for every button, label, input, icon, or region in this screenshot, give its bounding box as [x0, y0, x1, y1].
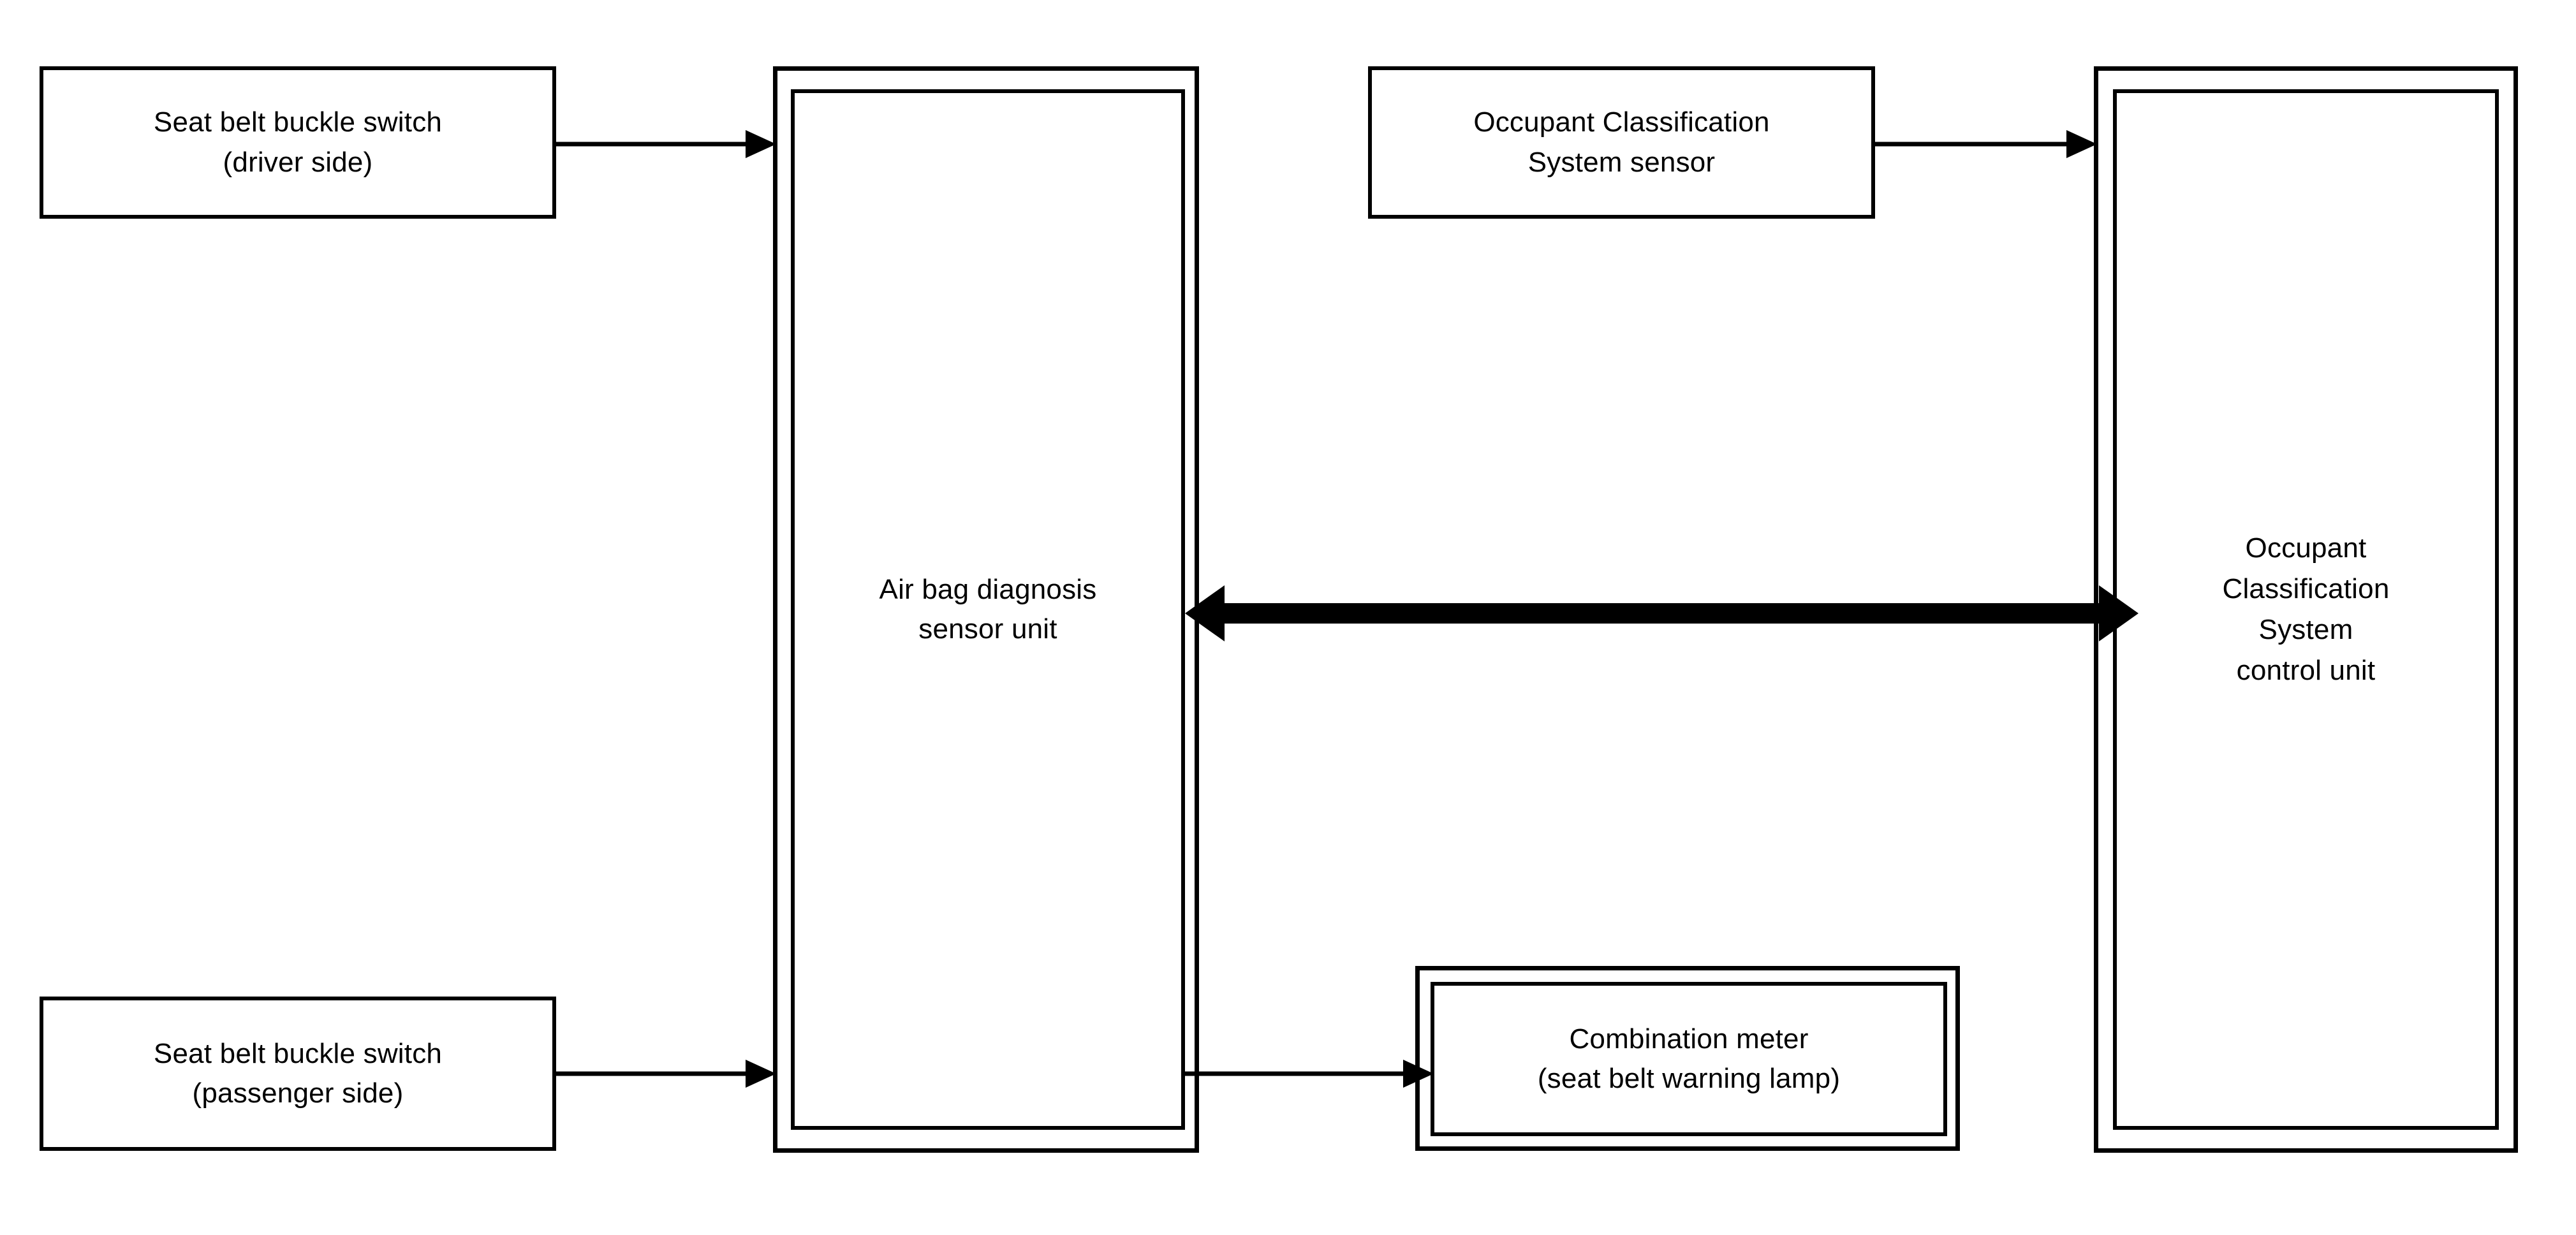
node-label-seat-belt-buckle-switch-driver: Seat belt buckle switch (driver side) [147, 103, 448, 182]
node-seat-belt-buckle-switch-passenger: Seat belt buckle switch (passenger side) [40, 997, 556, 1151]
edge-ocs-sensor-to-ocs-control-unit-arrow [1875, 124, 2097, 164]
node-occupant-classification-system-sensor: Occupant Classification System sensor [1368, 66, 1875, 219]
node-air-bag-diagnosis-sensor-unit: Air bag diagnosis sensor unit [791, 89, 1185, 1130]
node-label-combination-meter: Combination meter (seat belt warning lam… [1531, 1019, 1846, 1099]
node-seat-belt-buckle-switch-driver: Seat belt buckle switch (driver side) [40, 66, 556, 219]
node-label-seat-belt-buckle-switch-passenger: Seat belt buckle switch (passenger side) [147, 1034, 448, 1114]
node-label-air-bag-diagnosis-sensor-unit: Air bag diagnosis sensor unit [873, 570, 1103, 650]
node-label-occupant-classification-system-sensor: Occupant Classification System sensor [1467, 103, 1776, 182]
edge-passenger-switch-to-airbag-unit-arrow [556, 1054, 776, 1093]
edge-driver-switch-to-airbag-unit-arrow [556, 124, 776, 164]
edge-airbag-unit-to-combination-meter-arrow [1185, 1054, 1434, 1093]
edge-airbag-unit-to-ocs-control-unit-bidirectional-arrow [1185, 574, 2138, 653]
block-diagram-canvas: Seat belt buckle switch (driver side) Se… [0, 0, 2576, 1235]
node-label-occupant-classification-system-control-unit: Occupant Classification System control u… [2216, 528, 2396, 691]
node-combination-meter: Combination meter (seat belt warning lam… [1431, 982, 1947, 1136]
node-occupant-classification-system-control-unit: Occupant Classification System control u… [2113, 89, 2499, 1130]
